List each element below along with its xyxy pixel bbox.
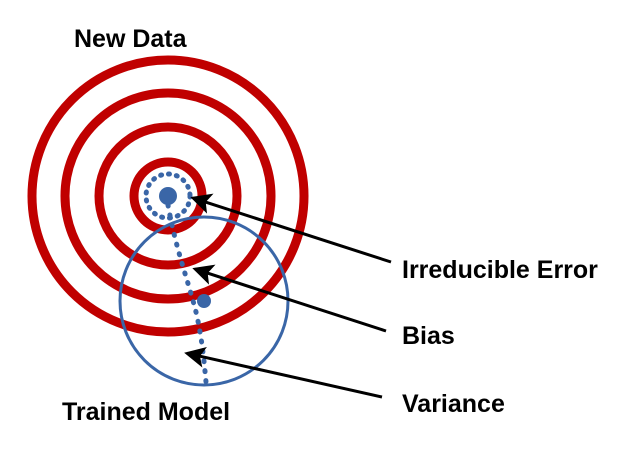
variance-label: Variance [402,390,505,418]
bias-label: Bias [402,322,455,350]
diagram-canvas: New Data Trained Model Irreducible Error… [0,0,631,460]
trained-model-label: Trained Model [62,398,230,426]
trained-model-center-dot [197,294,211,308]
irreducible-error-label: Irreducible Error [402,256,598,284]
canvas-background [0,0,631,460]
bias-variance-diagram: New Data Trained Model Irreducible Error… [0,0,631,460]
new-data-label: New Data [74,25,188,53]
bullseye-center-dot [159,187,177,205]
